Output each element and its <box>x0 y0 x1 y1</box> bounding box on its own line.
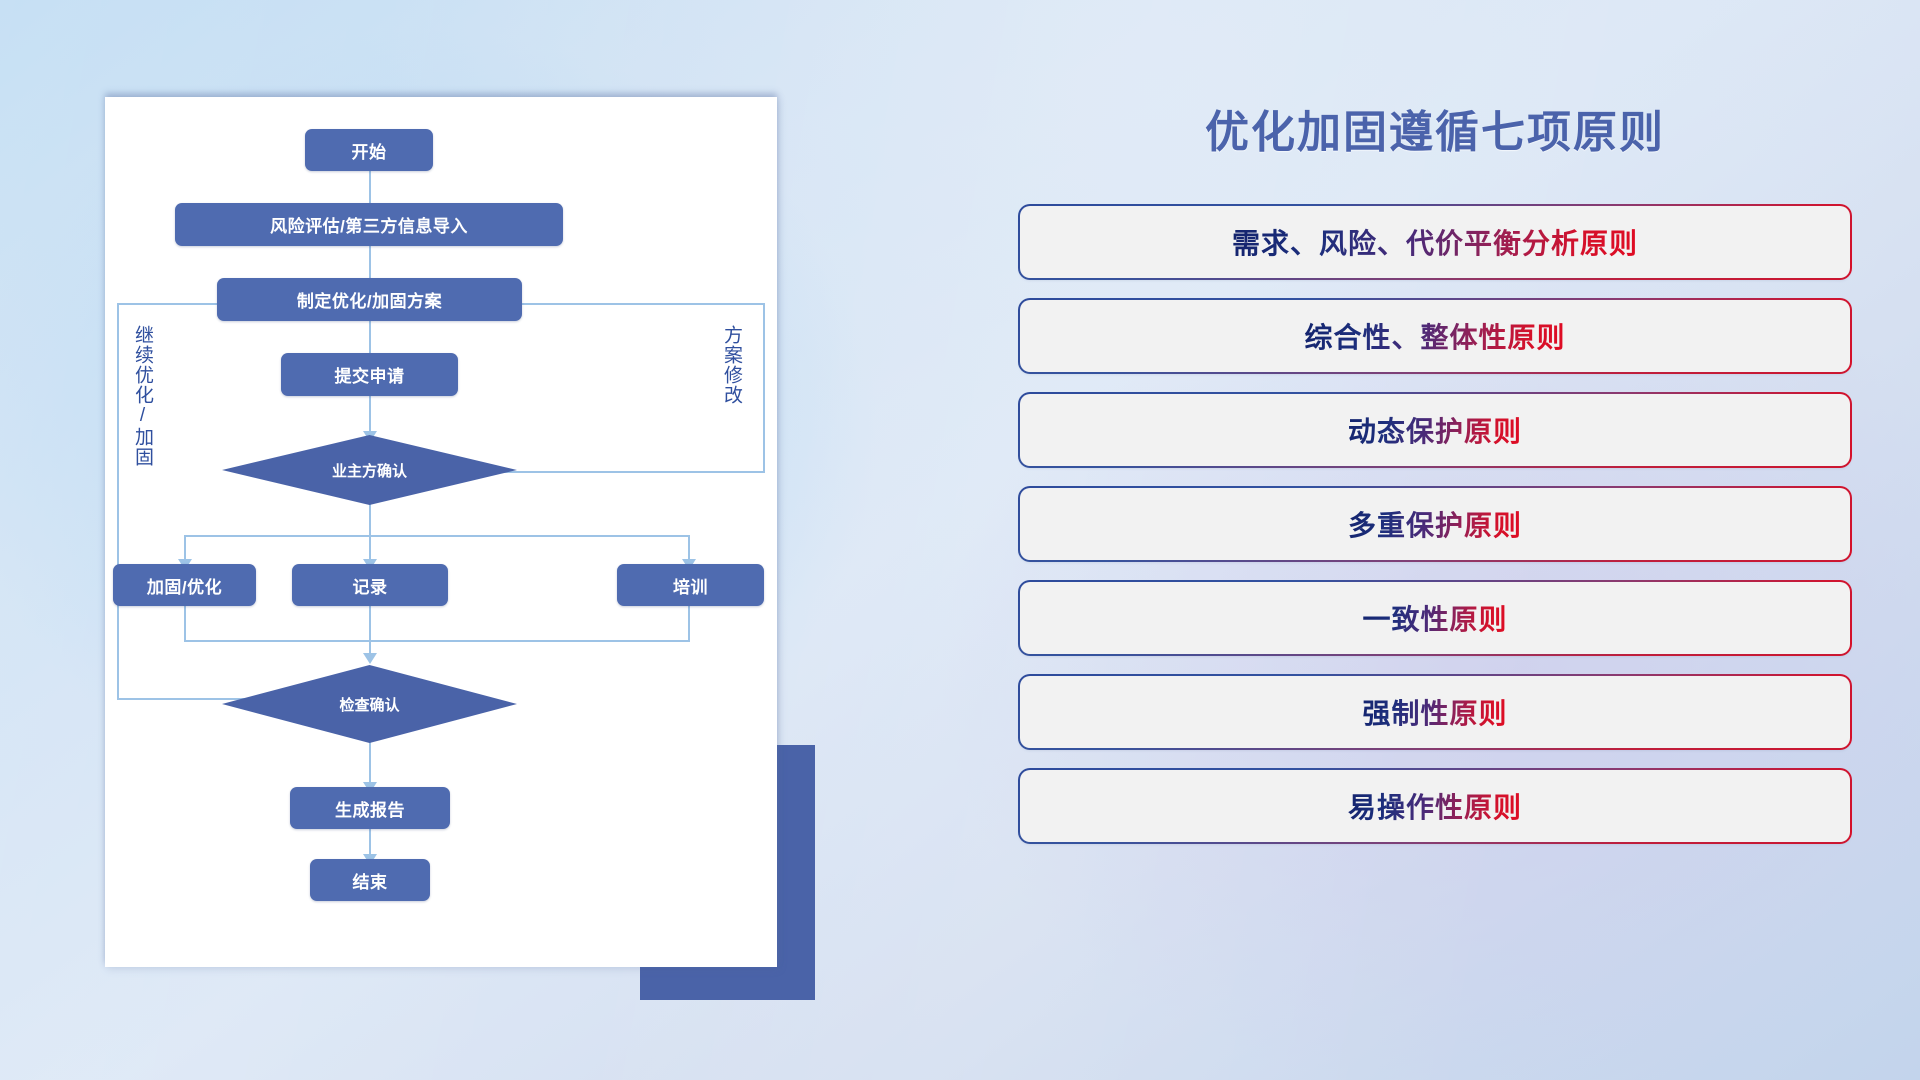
flow-node-submit-label: 提交申请 <box>335 362 405 387</box>
principle-item-5-label: 一致性原则 <box>1362 598 1507 638</box>
principle-item-6[interactable]: 强制性原则 <box>1020 676 1850 748</box>
flow-decision-check-confirm[interactable]: 检查确认 <box>222 665 517 743</box>
flow-node-start[interactable]: 开始 <box>305 129 433 171</box>
panel-title: 优化加固遵循七项原则 <box>1020 96 1850 160</box>
principles-panel: 优化加固遵循七项原则 需求、风险、代价平衡分析原则 综合性、整体性原则 动态保护… <box>1020 90 1850 1020</box>
connector-owner-to-bus <box>369 504 371 537</box>
principle-list: 需求、风险、代价平衡分析原则 综合性、整体性原则 动态保护原则 多重保护原则 一… <box>1020 206 1850 842</box>
flow-node-reinforce-label: 加固/优化 <box>147 573 222 598</box>
edge-label-plan-revision: 方案修改 <box>722 325 741 405</box>
principle-item-1-label: 需求、风险、代价平衡分析原则 <box>1232 222 1638 262</box>
flow-node-training[interactable]: 培训 <box>617 564 764 606</box>
flow-node-record[interactable]: 记录 <box>292 564 448 606</box>
flow-decision-check-confirm-label: 检查确认 <box>222 665 517 743</box>
principle-item-3[interactable]: 动态保护原则 <box>1020 394 1850 466</box>
principle-item-5[interactable]: 一致性原则 <box>1020 582 1850 654</box>
edge-label-continue-optimize: 继续优化/加固 <box>133 325 152 467</box>
flowchart-card: 开始 风险评估/第三方信息导入 制定优化/加固方案 提交申请 业主方确认 加固/… <box>105 97 777 967</box>
flow-node-submit[interactable]: 提交申请 <box>281 353 458 396</box>
connector-record-to-check <box>369 605 371 658</box>
flow-decision-owner-confirm-label: 业主方确认 <box>222 435 517 505</box>
flow-node-reinforce[interactable]: 加固/优化 <box>113 564 256 606</box>
principle-item-4-label: 多重保护原则 <box>1348 504 1522 544</box>
flow-node-report-label: 生成报告 <box>335 796 405 821</box>
flow-decision-owner-confirm[interactable]: 业主方确认 <box>222 435 517 505</box>
flow-node-end[interactable]: 结束 <box>310 859 430 901</box>
flow-node-start-label: 开始 <box>352 138 387 163</box>
connector-fanout-bus <box>184 535 689 537</box>
flow-node-report[interactable]: 生成报告 <box>290 787 450 829</box>
flow-node-risk-assessment-label: 风险评估/第三方信息导入 <box>270 212 468 237</box>
connector-training-to-merge <box>688 605 690 642</box>
flow-node-end-label: 结束 <box>353 868 388 893</box>
connector-owner-loop-right <box>763 303 765 473</box>
principle-item-7[interactable]: 易操作性原则 <box>1020 770 1850 842</box>
slide-canvas: 开始 风险评估/第三方信息导入 制定优化/加固方案 提交申请 业主方确认 加固/… <box>0 0 1920 1080</box>
flow-node-risk-assessment[interactable]: 风险评估/第三方信息导入 <box>175 203 563 246</box>
principle-item-1[interactable]: 需求、风险、代价平衡分析原则 <box>1020 206 1850 278</box>
principle-item-4[interactable]: 多重保护原则 <box>1020 488 1850 560</box>
flowchart-diagram: 开始 风险评估/第三方信息导入 制定优化/加固方案 提交申请 业主方确认 加固/… <box>105 97 777 967</box>
connector-owner-loop-top <box>485 303 765 305</box>
principle-item-2-label: 综合性、整体性原则 <box>1304 316 1565 356</box>
flow-node-plan-label: 制定优化/加固方案 <box>297 287 442 312</box>
flow-node-training-label: 培训 <box>673 573 708 598</box>
principle-item-7-label: 易操作性原则 <box>1348 786 1522 826</box>
flow-node-plan[interactable]: 制定优化/加固方案 <box>217 278 522 321</box>
connector-merge-bus <box>184 640 689 642</box>
principle-item-2[interactable]: 综合性、整体性原则 <box>1020 300 1850 372</box>
connector-check-loop-left <box>117 303 119 700</box>
principle-item-3-label: 动态保护原则 <box>1348 410 1522 450</box>
arrowhead-merge-to-check <box>363 653 377 664</box>
flow-node-record-label: 记录 <box>353 573 388 598</box>
principle-item-6-label: 强制性原则 <box>1362 692 1507 732</box>
connector-reinforce-to-merge <box>184 605 186 642</box>
